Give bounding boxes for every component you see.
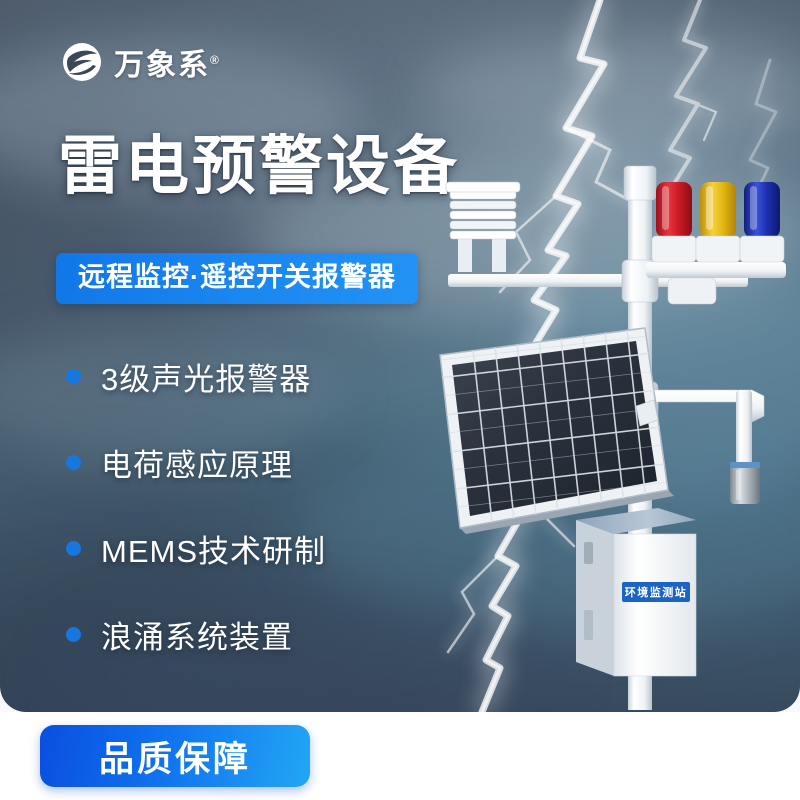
bullet-dot-icon bbox=[66, 455, 81, 470]
bullet-dot-icon bbox=[66, 627, 81, 642]
hero-background: 万象系® 雷电预警设备 远程监控·遥控开关报警器 3级声光报警器 电荷感应原理 … bbox=[0, 0, 800, 712]
list-item: 浪涌系统装置 bbox=[66, 603, 326, 665]
yellow-alarm-beacon bbox=[696, 182, 740, 262]
brand-name: 万象系® bbox=[114, 40, 219, 84]
list-item: 电荷感应原理 bbox=[66, 431, 326, 493]
feature-label: 电荷感应原理 bbox=[101, 440, 293, 485]
feature-label: 3级声光报警器 bbox=[101, 354, 311, 399]
bullet-dot-icon bbox=[66, 369, 81, 384]
blue-alarm-beacon bbox=[740, 182, 784, 262]
bullet-dot-icon bbox=[66, 541, 81, 556]
radiation-shield-sensor-icon bbox=[446, 182, 520, 272]
red-alarm-beacon bbox=[652, 182, 696, 262]
brand-name-text: 万象系 bbox=[114, 49, 210, 82]
registered-trademark-mark: ® bbox=[210, 53, 219, 67]
subtitle-badge: 远程监控·遥控开关报警器 bbox=[56, 253, 418, 304]
cabinet-label: 环境监测站 bbox=[622, 582, 690, 602]
wanxiangxi-circle-logo-icon bbox=[60, 40, 104, 84]
quality-guarantee-button[interactable]: 品质保障 bbox=[40, 725, 310, 787]
bottom-trust-bar: 品质保障 极速发货 bbox=[0, 712, 800, 800]
product-poster: 万象系® 雷电预警设备 远程监控·遥控开关报警器 3级声光报警器 电荷感应原理 … bbox=[0, 0, 800, 800]
brand-logo: 万象系® bbox=[60, 40, 219, 84]
feature-label: 浪涌系统装置 bbox=[101, 612, 293, 657]
boom-arm-sensor-icon bbox=[730, 462, 760, 504]
product-illustration: 环境监测站 bbox=[400, 90, 800, 710]
feature-label: MEMS技术研制 bbox=[101, 526, 326, 571]
list-item: MEMS技术研制 bbox=[66, 517, 326, 579]
list-item: 3级声光报警器 bbox=[66, 345, 326, 407]
solar-panel-icon bbox=[438, 320, 676, 534]
cabinet-label-text: 环境监测站 bbox=[625, 585, 688, 599]
feature-list: 3级声光报警器 电荷感应原理 MEMS技术研制 浪涌系统装置 bbox=[66, 345, 326, 665]
